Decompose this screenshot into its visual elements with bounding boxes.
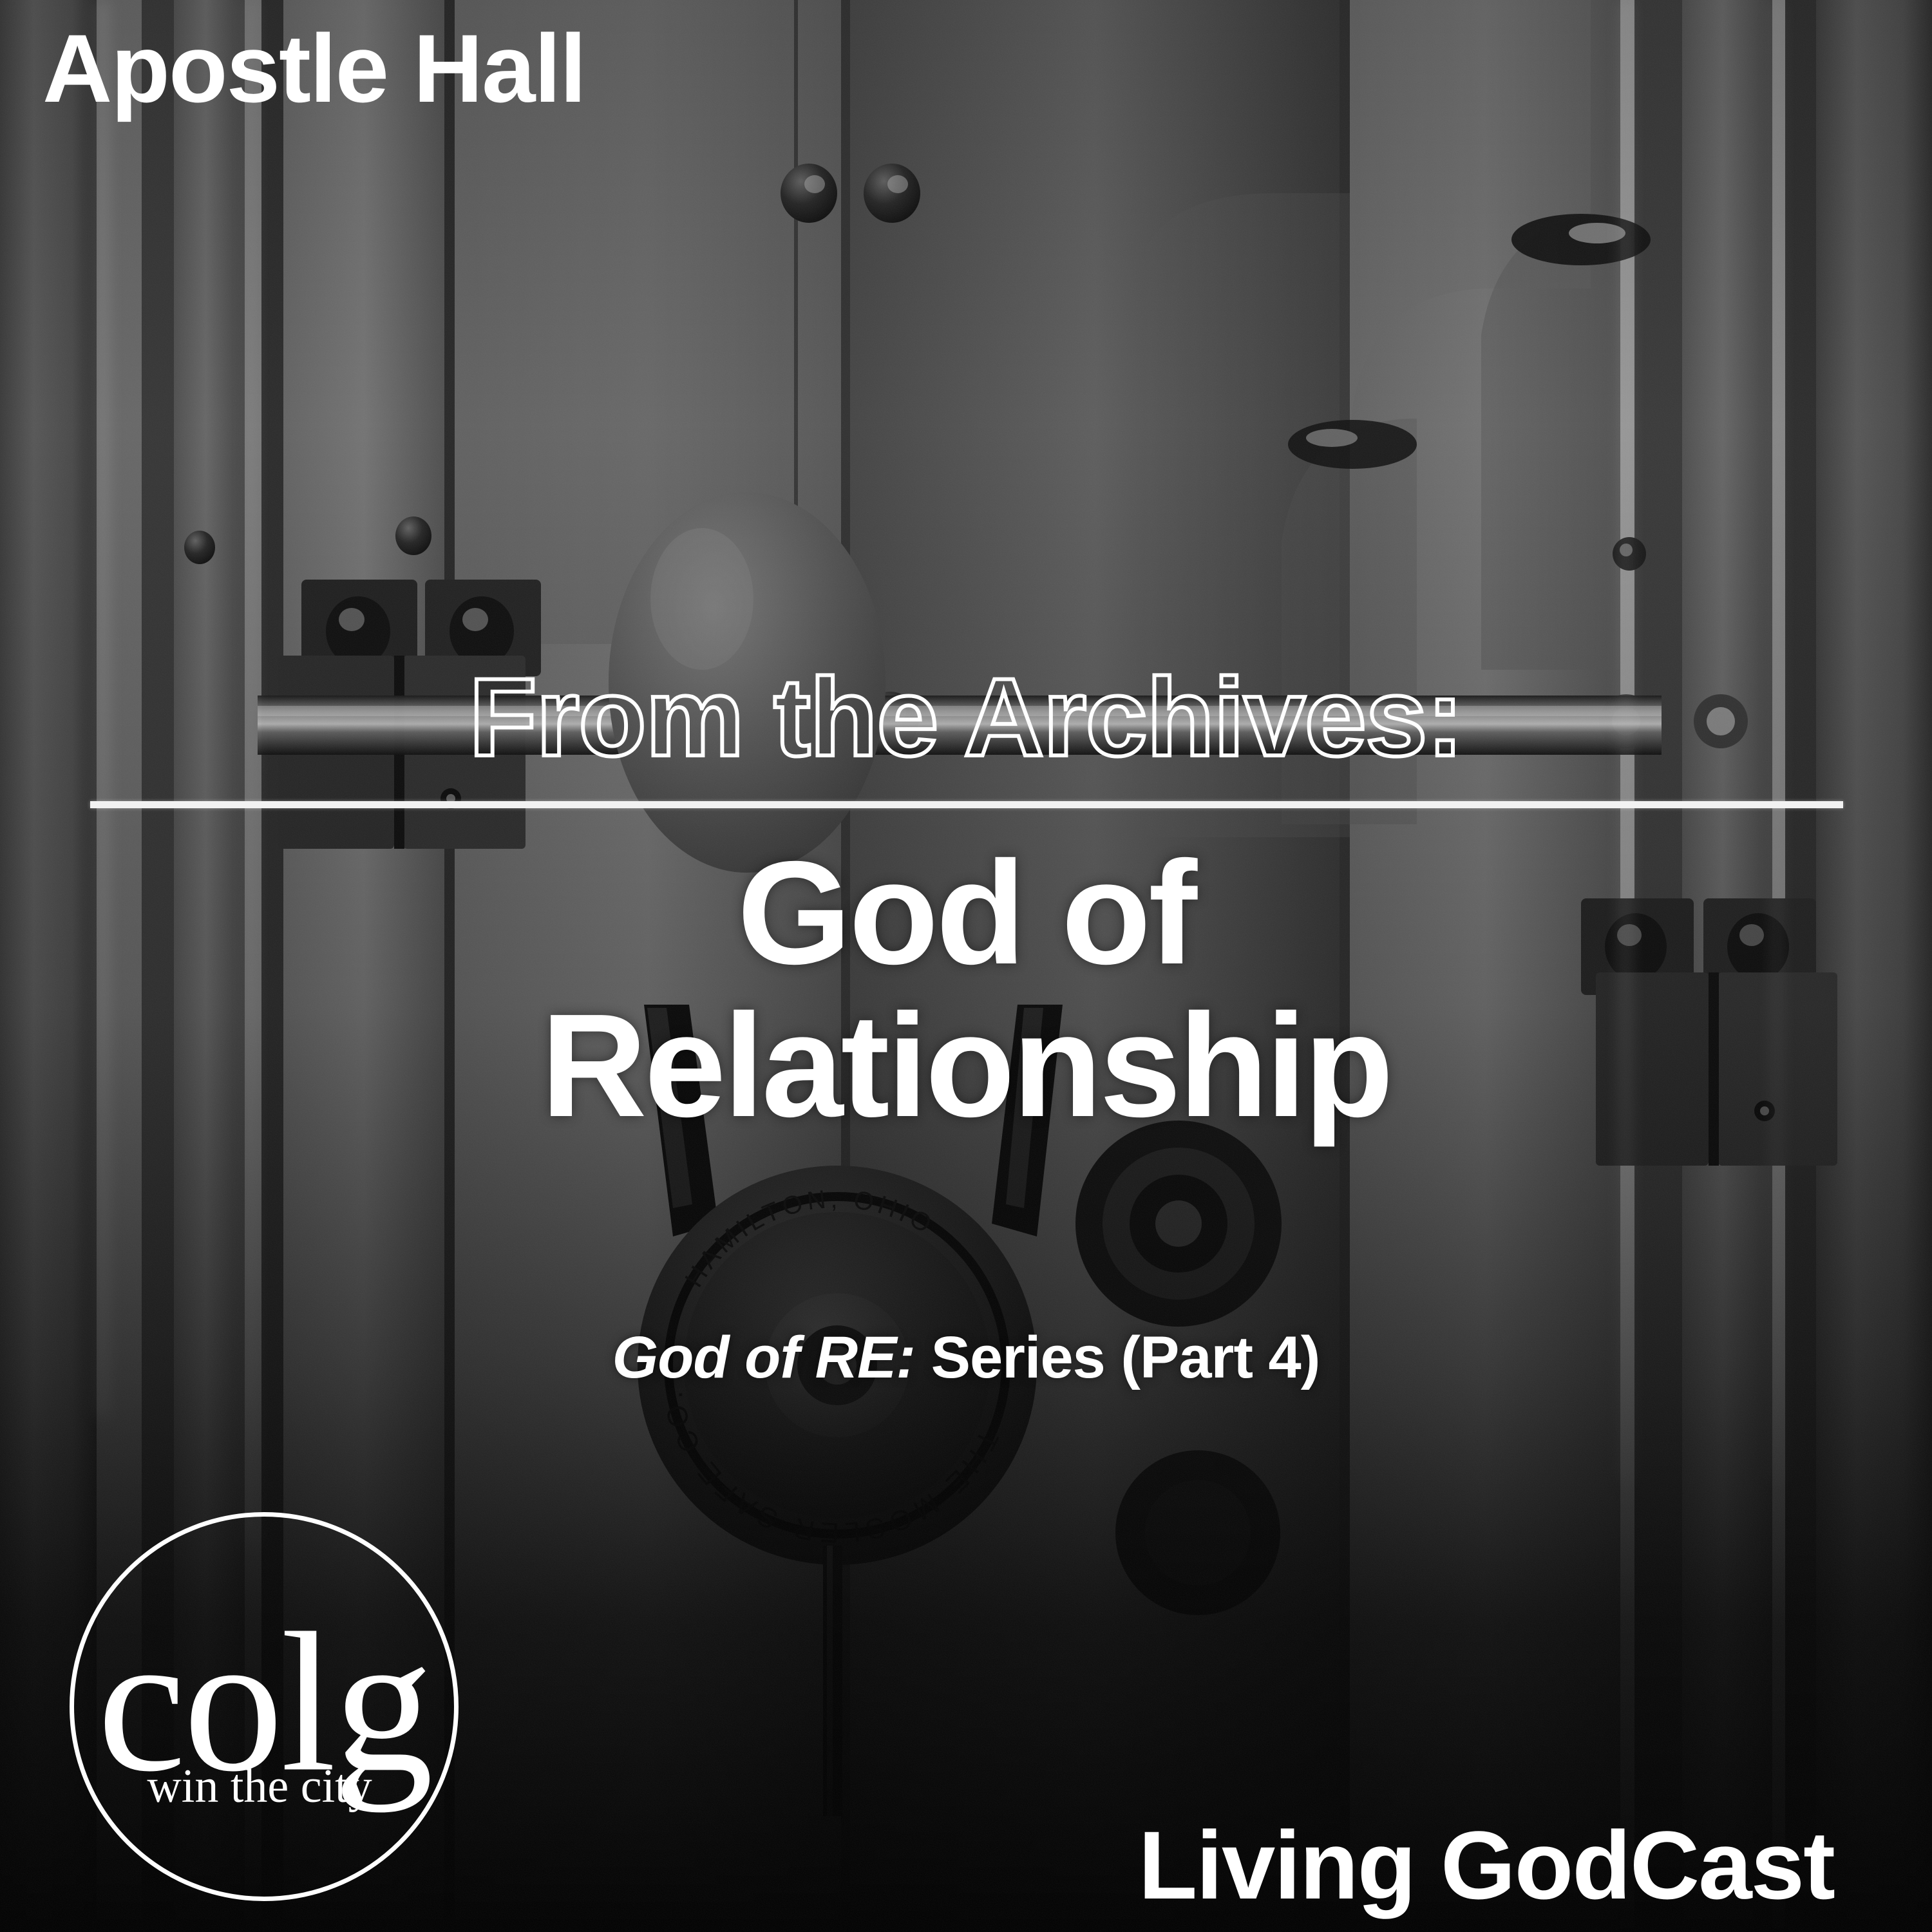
episode-title-line-2: Relationship bbox=[0, 990, 1932, 1142]
text-overlay: Apostle Hall From the Archives: God of R… bbox=[0, 0, 1932, 1932]
speaker-name: Apostle Hall bbox=[43, 12, 585, 126]
eyebrow-label: From the Archives: bbox=[469, 662, 1463, 773]
episode-title-line-1: God of bbox=[0, 837, 1932, 990]
title-divider-rule bbox=[90, 801, 1843, 808]
show-name: Living GodCast bbox=[1139, 1808, 1834, 1922]
series-subtitle: God of RE: Series (Part 4) bbox=[0, 1325, 1932, 1390]
episode-title: God of Relationship bbox=[0, 837, 1932, 1142]
colg-brand-logo: colg win the city bbox=[70, 1512, 459, 1901]
series-subtitle-rest: Series (Part 4) bbox=[915, 1325, 1320, 1390]
podcast-cover-art: THE MOSLER SAFE CO. HAMILTON, OHIO bbox=[0, 0, 1932, 1932]
logo-tagline: win the city bbox=[147, 1759, 372, 1814]
series-subtitle-emphasis: God of RE: bbox=[612, 1325, 915, 1390]
eyebrow-wrapper: From the Archives: bbox=[0, 662, 1932, 773]
